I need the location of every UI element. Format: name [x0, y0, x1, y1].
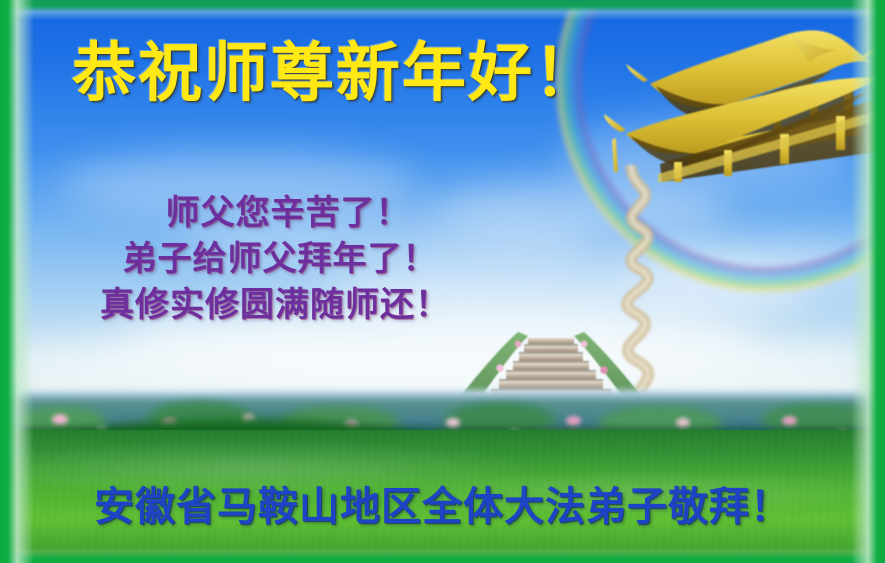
- verse-block: 师父您辛苦了！ 弟子给师父拜年了！ 真修实修圆满随师还！: [40, 190, 510, 329]
- page-title: 恭祝师尊新年好！: [72, 42, 600, 106]
- verse-line-2: 弟子给师父拜年了！: [40, 236, 510, 282]
- verse-line-3: 真修实修圆满随师还！: [40, 282, 510, 328]
- golden-chinese-pavilion: [604, 22, 885, 182]
- verse-line-1: 师父您辛苦了！: [40, 190, 510, 236]
- greeting-card: 恭祝师尊新年好！ 师父您辛苦了！ 弟子给师父拜年了！ 真修实修圆满随师还！ 安徽…: [0, 0, 885, 563]
- signature-text: 安徽省马鞍山地区全体大法弟子敬拜！: [0, 487, 885, 527]
